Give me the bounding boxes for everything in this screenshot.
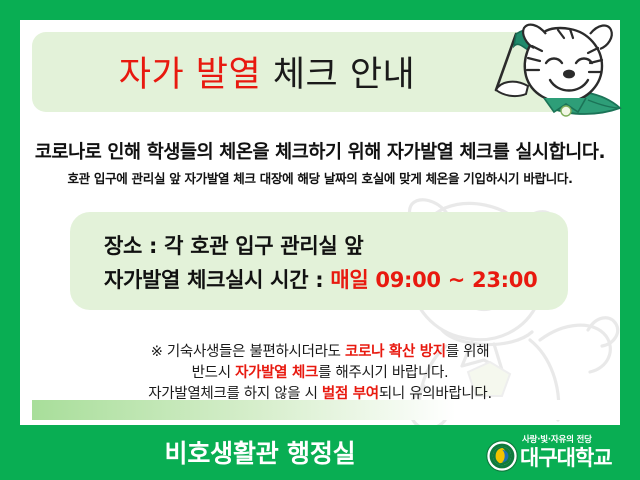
footer-bar: 비호생활관 행정실 사랑·빛·자유의 전당 대구대학교 xyxy=(0,425,640,480)
title-banner: 자가 발열 체크 안내 xyxy=(32,32,584,112)
university-name: 대구대학교 xyxy=(520,442,612,472)
page-title: 자가 발열 체크 안내 xyxy=(32,46,502,97)
note-1-a: ※ 기숙사생들은 불편하시더라도 xyxy=(151,344,345,360)
page-title-rest: 체크 안내 xyxy=(261,55,415,95)
page-title-highlight: 자가 발열 xyxy=(119,55,261,95)
info-hours-value: 매일 09:00 ~ 23:00 xyxy=(330,268,537,292)
info-location: 장소 : 각 호관 입구 관리실 앞 xyxy=(104,230,363,260)
note-line-1: ※ 기숙사생들은 불편하시더라도 코로나 확산 방지를 위해 xyxy=(20,342,620,363)
info-hours: 자가발열 체크실시 시간 : 매일 09:00 ~ 23:00 xyxy=(104,264,537,294)
headline-sub: 호관 입구에 관리실 앞 자가발열 체크 대장에 해당 날짜의 호실에 맞게 체… xyxy=(20,168,620,187)
note-2-highlight: 자가발열 체크 xyxy=(235,365,318,381)
info-hours-label: 자가발열 체크실시 시간 : xyxy=(104,268,330,292)
poster-root: 자가 발열 체크 안내 코로나로 인해 학생들의 체온을 체크하기 위해 자가발… xyxy=(0,0,640,480)
note-2-a: 반드시 xyxy=(192,365,235,381)
gradient-divider xyxy=(32,400,620,420)
note-1-highlight: 코로나 확산 방지 xyxy=(345,344,446,360)
daegu-university-emblem-icon xyxy=(486,440,518,472)
info-box: 장소 : 각 호관 입구 관리실 앞 자가발열 체크실시 시간 : 매일 09:… xyxy=(70,212,568,310)
university-brand: 사랑·빛·자유의 전당 대구대학교 xyxy=(482,431,632,475)
headline-main: 코로나로 인해 학생들의 체온을 체크하기 위해 자가발열 체크를 실시합니다. xyxy=(20,138,620,164)
poster-sheet: 자가 발열 체크 안내 코로나로 인해 학생들의 체온을 체크하기 위해 자가발… xyxy=(20,20,620,425)
notes-block: ※ 기숙사생들은 불편하시더라도 코로나 확산 방지를 위해 반드시 자가발열 … xyxy=(20,342,620,405)
note-line-2: 반드시 자가발열 체크를 해주시기 바랍니다. xyxy=(20,363,620,384)
note-1-b: 를 위해 xyxy=(446,344,489,360)
note-2-b: 를 해주시기 바랍니다. xyxy=(318,365,448,381)
